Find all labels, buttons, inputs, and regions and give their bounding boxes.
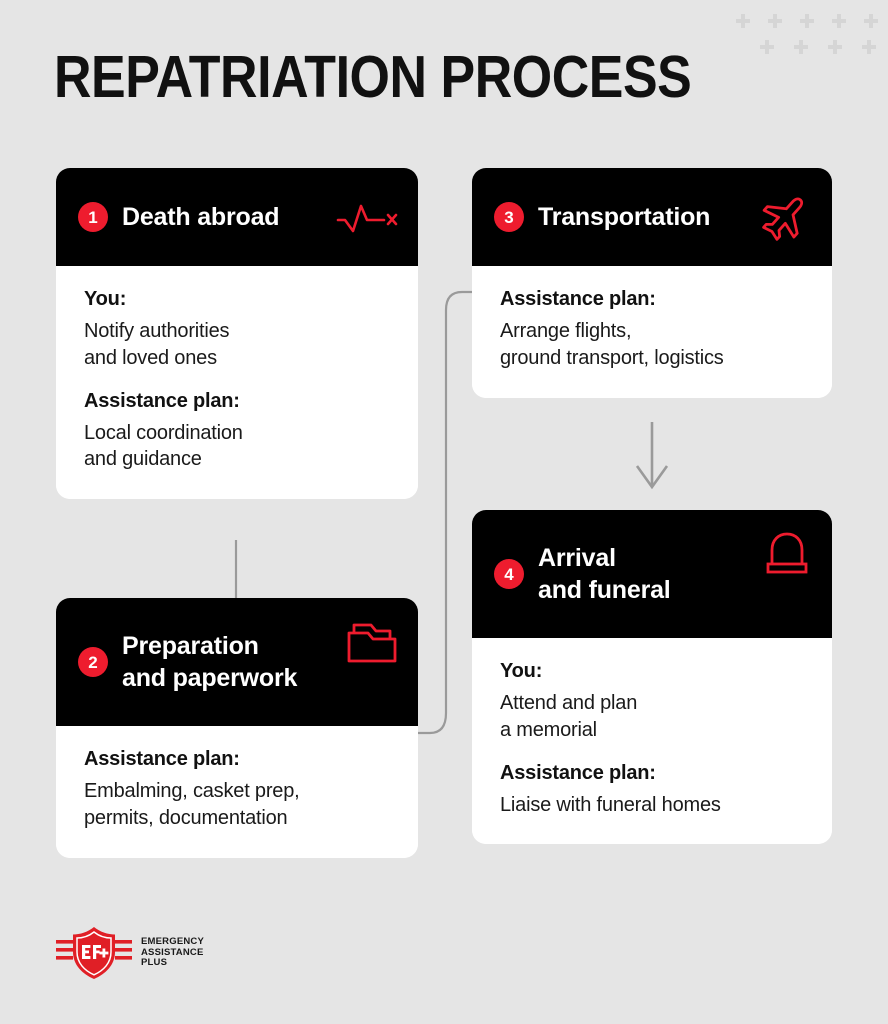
step-1-block-2: Assistance plan: Local coordination and … [84, 390, 394, 474]
step-4-header: 4 Arrival and funeral [472, 510, 832, 638]
step-3-badge: 3 [494, 202, 524, 232]
step-4-body: You: Attend and plan a memorial Assistan… [472, 638, 832, 844]
step-3-title: Transportation [538, 201, 744, 233]
block-text: Attend and plan a memorial [500, 690, 808, 744]
folder-icon [346, 620, 398, 664]
ea-plus-shield-icon [56, 925, 132, 981]
block-label: Assistance plan: [84, 390, 394, 413]
step-2-body: Assistance plan: Embalming, casket prep,… [56, 726, 418, 858]
step-card-4[interactable]: 4 Arrival and funeral You: Attend and pl… [472, 510, 832, 844]
step-2-title: Preparation and paperwork [122, 630, 332, 694]
step-card-1[interactable]: 1 Death abroad You: Notify authorities a… [56, 168, 418, 499]
step-1-block-1: You: Notify authorities and loved ones [84, 288, 394, 372]
step-2-header: 2 Preparation and paperwork [56, 598, 418, 726]
step-1-header: 1 Death abroad [56, 168, 418, 266]
step-3-block-1: Assistance plan: Arrange flights, ground… [500, 288, 808, 372]
block-label: You: [84, 288, 394, 311]
step-card-2[interactable]: 2 Preparation and paperwork Assistance p… [56, 598, 418, 858]
step-1-title: Death abroad [122, 201, 322, 233]
step-4-title: Arrival and funeral [538, 542, 748, 606]
step-2-badge: 2 [78, 647, 108, 677]
step-1-body: You: Notify authorities and loved ones A… [56, 266, 418, 499]
block-text: Notify authorities and loved ones [84, 318, 394, 372]
block-label: You: [500, 660, 808, 683]
urn-bell-icon [762, 530, 812, 578]
step-4-badge: 4 [494, 559, 524, 589]
block-text: Local coordination and guidance [84, 420, 394, 474]
block-label: Assistance plan: [500, 288, 808, 311]
flatline-heartbeat-icon [336, 200, 398, 234]
block-label: Assistance plan: [500, 762, 808, 785]
block-text: Liaise with funeral homes [500, 792, 808, 819]
step-3-header: 3 Transportation [472, 168, 832, 266]
step-1-badge: 1 [78, 202, 108, 232]
infographic-canvas: REPATRIATION PROCESS 1 Death abroad You:… [0, 0, 888, 1024]
block-text: Arrange flights, ground transport, logis… [500, 318, 808, 372]
step-4-block-1: You: Attend and plan a memorial [500, 660, 808, 744]
step-2-block-1: Assistance plan: Embalming, casket prep,… [84, 748, 394, 832]
block-label: Assistance plan: [84, 748, 394, 771]
brand-wordmark: EMERGENCY ASSISTANCE PLUS [141, 937, 204, 969]
block-text: Embalming, casket prep, permits, documen… [84, 778, 394, 832]
step-3-body: Assistance plan: Arrange flights, ground… [472, 266, 832, 398]
connector-step2-step3 [418, 292, 472, 733]
airplane-icon [758, 190, 812, 244]
step-card-3[interactable]: 3 Transportation Assistance plan: Arrang… [472, 168, 832, 398]
brand-logo: EMERGENCY ASSISTANCE PLUS [56, 925, 204, 981]
step-4-block-2: Assistance plan: Liaise with funeral hom… [500, 762, 808, 819]
